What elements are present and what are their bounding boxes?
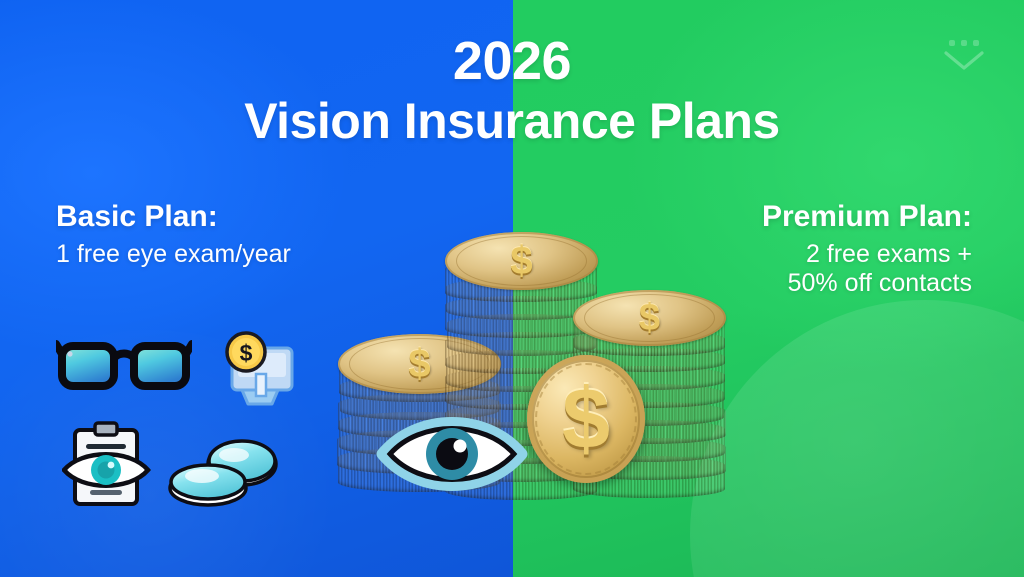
premium-plan-title: Premium Plan:	[762, 200, 972, 234]
basic-plan-block: Basic Plan: 1 free eye exam/year	[56, 200, 291, 269]
poster-canvas: $ $	[0, 0, 1024, 577]
premium-plan-description: 2 free exams + 50% off contacts	[762, 240, 972, 298]
basic-plan-description: 1 free eye exam/year	[56, 240, 291, 269]
basic-plan-title: Basic Plan:	[56, 200, 291, 234]
title-year: 2026	[0, 34, 1024, 88]
page-title: 2026 Vision Insurance Plans	[0, 34, 1024, 146]
premium-plan-block: Premium Plan: 2 free exams + 50% off con…	[762, 200, 972, 298]
title-subtitle: Vision Insurance Plans	[0, 96, 1024, 146]
